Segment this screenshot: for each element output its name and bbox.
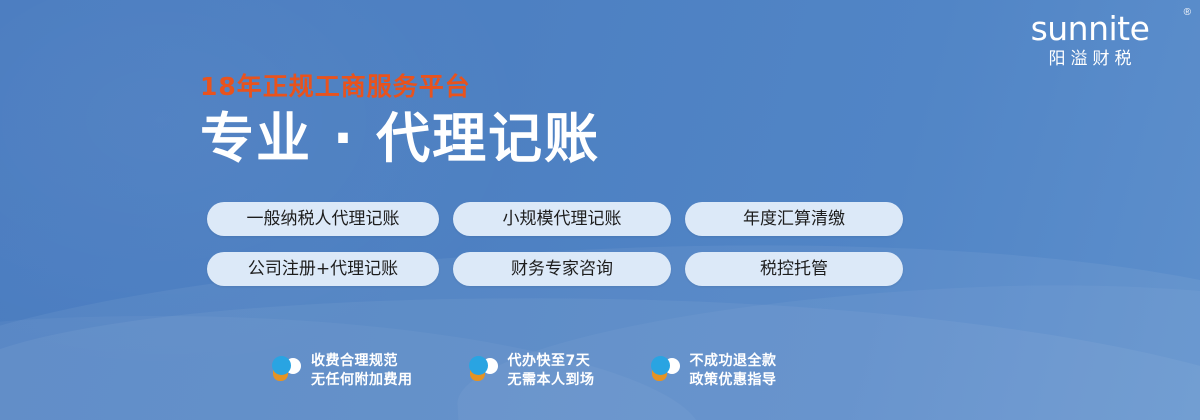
- brand-logo[interactable]: sunnite ® 阳溢财税: [1002, 12, 1178, 70]
- service-pill-row: 一般纳税人代理记账 小规模代理记账 年度汇算清缴: [207, 202, 903, 236]
- feature-item-speed: 代办快至7天 无需本人到场: [469, 352, 595, 390]
- feature-line-1: 不成功退全款: [690, 352, 777, 371]
- feature-item-guarantee: 不成功退全款 政策优惠指导: [651, 352, 777, 390]
- lightbulb-globe: [651, 356, 670, 375]
- hero-headline: 专业 · 代理记账: [200, 106, 600, 172]
- lightbulb-icon: [651, 354, 681, 388]
- feature-line-1: 收费合理规范: [311, 352, 413, 371]
- lightbulb-globe: [469, 356, 488, 375]
- feature-line-2: 无任何附加费用: [311, 371, 413, 390]
- feature-line-2: 政策优惠指导: [690, 371, 777, 390]
- service-pill-tax-control-custody[interactable]: 税控托管: [685, 252, 903, 286]
- background-glow: [0, 0, 540, 380]
- logo-wordmark: sunnite: [1031, 12, 1150, 46]
- lightbulb-icon: [272, 354, 302, 388]
- feature-text-pricing: 收费合理规范 无任何附加费用: [311, 352, 413, 390]
- service-pill-annual-settlement[interactable]: 年度汇算清缴: [685, 202, 903, 236]
- lightbulb-globe: [272, 356, 291, 375]
- feature-text-speed: 代办快至7天 无需本人到场: [508, 352, 595, 390]
- service-pill-row: 公司注册+代理记账 财务专家咨询 税控托管: [207, 252, 903, 286]
- feature-list: 收费合理规范 无任何附加费用 代办快至7天 无需本人到场 不成功退全款: [272, 352, 777, 390]
- service-pill-expert-consulting[interactable]: 财务专家咨询: [453, 252, 671, 286]
- service-pill-small-scale[interactable]: 小规模代理记账: [453, 202, 671, 236]
- feature-item-pricing: 收费合理规范 无任何附加费用: [272, 352, 413, 390]
- registered-trademark-icon: ®: [1184, 8, 1191, 18]
- service-pill-grid: 一般纳税人代理记账 小规模代理记账 年度汇算清缴 公司注册+代理记账 财务专家咨…: [207, 202, 903, 286]
- service-pill-general-taxpayer[interactable]: 一般纳税人代理记账: [207, 202, 439, 236]
- feature-line-1: 代办快至7天: [508, 352, 595, 371]
- logo-chinese-name: 阳溢财税: [1002, 48, 1178, 70]
- promotional-banner: sunnite ® 阳溢财税 18年正规工商服务平台 专业 · 代理记账 一般纳…: [0, 0, 1200, 420]
- feature-text-guarantee: 不成功退全款 政策优惠指导: [690, 352, 777, 390]
- hero-eyebrow: 18年正规工商服务平台: [200, 72, 600, 102]
- hero-text-block: 18年正规工商服务平台 专业 · 代理记账: [200, 72, 600, 172]
- lightbulb-icon: [469, 354, 499, 388]
- feature-line-2: 无需本人到场: [508, 371, 595, 390]
- background-wave-2: [0, 280, 1200, 420]
- service-pill-company-registration[interactable]: 公司注册+代理记账: [207, 252, 439, 286]
